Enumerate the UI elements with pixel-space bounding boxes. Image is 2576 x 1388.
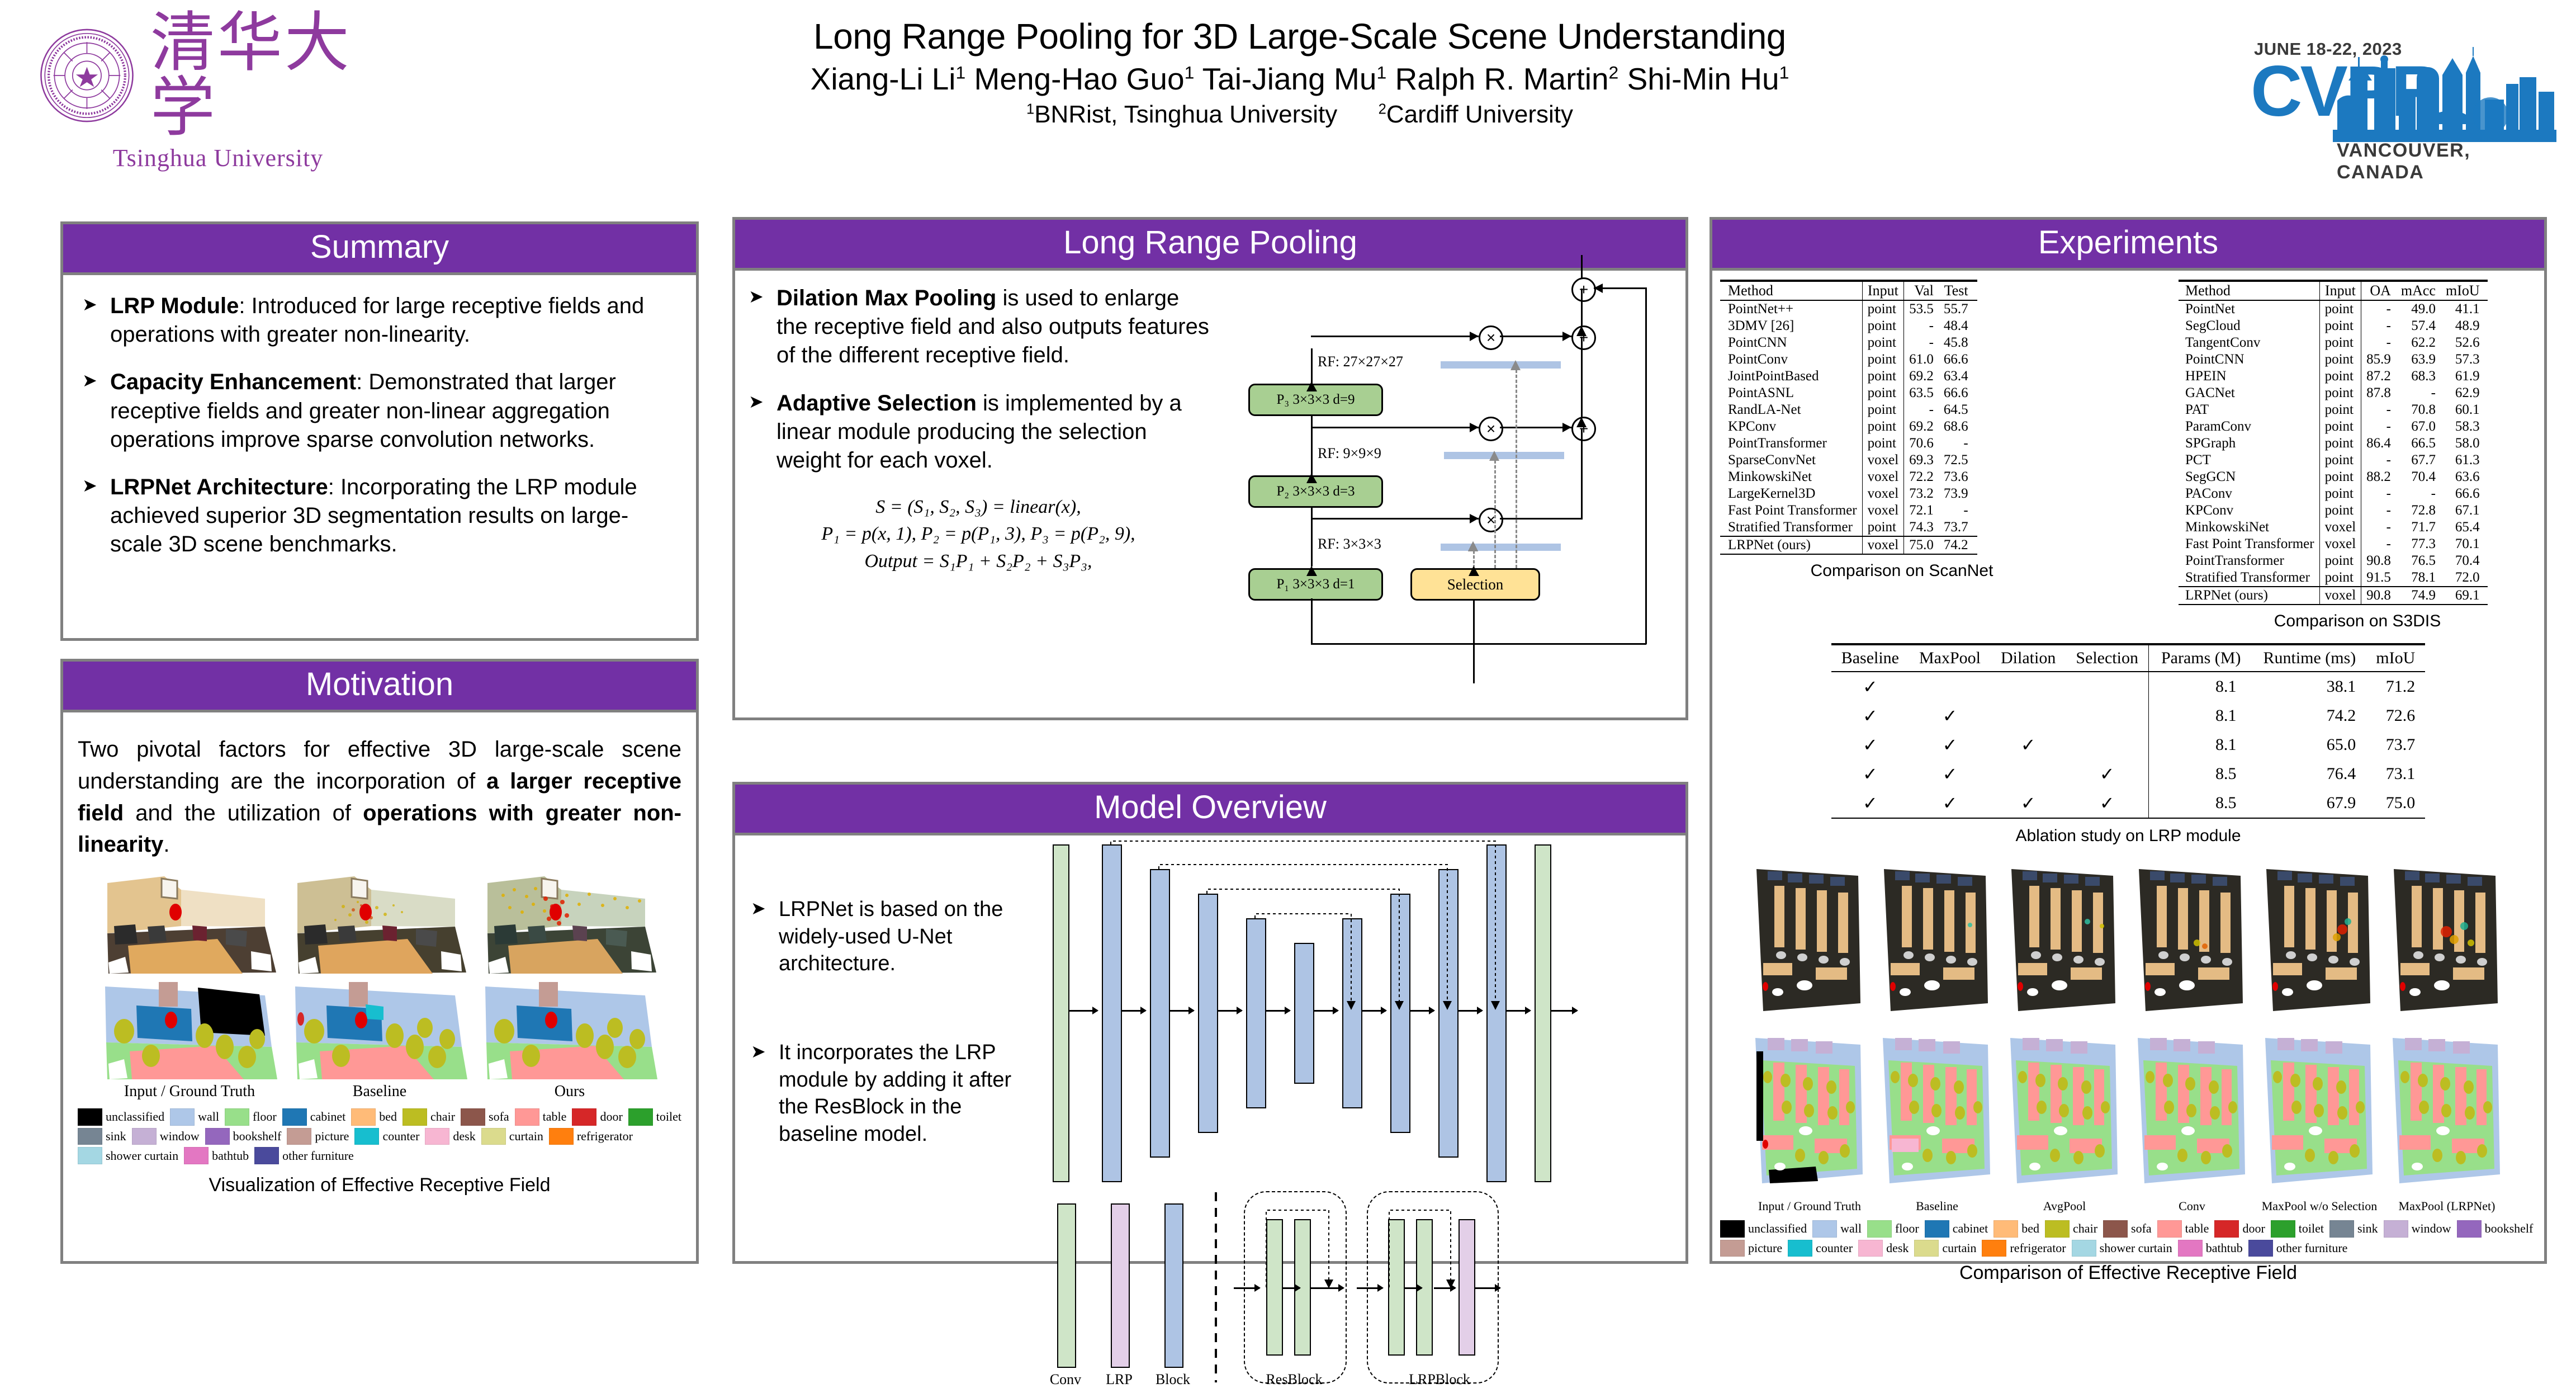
cell-check — [1991, 672, 2066, 701]
table-row: ✓8.138.171.2 — [1831, 672, 2426, 701]
s3dis-table: MethodInputOAmAccmIoUPointNetpoint-49.04… — [2179, 280, 2488, 606]
cell: voxel — [2319, 536, 2361, 553]
table-row: PAConvpoint--66.6 — [2179, 485, 2488, 502]
cell: 73.6 — [1939, 469, 1977, 485]
table-row: SegCloudpoint-57.448.9 — [2179, 318, 2488, 334]
diagram-mul-add-line-1 — [1500, 427, 1573, 428]
cell: 8.1 — [2148, 672, 2253, 701]
cell: 8.1 — [2148, 730, 2253, 759]
scannet-table: MethodInputValTestPointNet++point53.555.… — [1720, 280, 1977, 556]
cell: point — [1862, 334, 1904, 351]
legend-item: desk — [425, 1128, 475, 1145]
resblock-label: ResBlock — [1255, 1371, 1333, 1388]
title-block: Long Range Pooling for 3D Large-Scale Sc… — [503, 17, 2096, 129]
cell: 8.5 — [2148, 789, 2253, 818]
cell-check: ✓ — [1831, 701, 1909, 730]
cell: - — [2361, 536, 2396, 553]
summary-bullet-list: LRP Module: Introduced for large recepti… — [80, 292, 679, 559]
legend-item: floor — [225, 1108, 277, 1126]
legend-item: wall — [170, 1108, 219, 1126]
cell-check: ✓ — [1831, 789, 1909, 818]
cell-check — [1991, 759, 2066, 789]
legend-label: unclassified — [106, 1110, 164, 1124]
cell: point — [2319, 318, 2361, 334]
cell: 60.1 — [2441, 402, 2488, 418]
poster-root: 清华大学 Tsinghua University Long Range Pool… — [0, 0, 2576, 1288]
diagram-rf-label-1: RF: 9×9×9 — [1318, 445, 1381, 462]
legend-swatch — [254, 1147, 279, 1164]
table-row: HPEINpoint87.268.361.9 — [2179, 368, 2488, 385]
cell: - — [2361, 418, 2396, 435]
table-row: ✓✓8.174.272.6 — [1831, 701, 2426, 730]
table-row-ours: LRPNet (ours)voxel90.874.969.1 — [2179, 587, 2488, 605]
legend-item: wall — [1812, 1220, 1862, 1238]
model-bullet-1-rest: It incorporates the LRP module by adding… — [779, 1041, 1011, 1146]
legend-label: picture — [1748, 1241, 1782, 1255]
legend-item: sofa — [461, 1108, 509, 1126]
legend-label: sofa — [489, 1110, 509, 1124]
cell: point — [2319, 368, 2361, 385]
table-row: ✓✓✓8.576.473.1 — [1831, 759, 2426, 789]
cell: 87.2 — [2361, 368, 2396, 385]
legend-bar-lrp — [1111, 1203, 1130, 1368]
panel-long-range-pooling: Long Range Pooling Dilation Max Pooling … — [732, 217, 1688, 720]
legend-item: picture — [287, 1128, 349, 1145]
scannet-caption: Comparison on ScanNet — [1720, 561, 2083, 580]
col-header: OA — [2361, 281, 2396, 300]
cell-check: ✓ — [1991, 789, 2066, 818]
legend-swatch — [2103, 1220, 2128, 1238]
lrp-bullet-0-lead: Dilation Max Pooling — [776, 286, 996, 310]
legend-label: curtain — [509, 1129, 543, 1144]
legend-swatch — [402, 1108, 427, 1126]
cell: Stratified Transformer — [2179, 569, 2319, 587]
lrp-bullet-list: Dilation Max Pooling is used to enlarge … — [746, 284, 1210, 475]
cell: - — [1939, 502, 1977, 519]
tsinghua-chinese-name: 清华大学 — [150, 11, 397, 140]
cell: point — [2319, 502, 2361, 519]
legend-swatch — [78, 1108, 102, 1126]
cell: voxel — [1862, 452, 1904, 469]
cell: point — [2319, 385, 2361, 402]
legend-label: floor — [253, 1110, 277, 1124]
legend-label: chair — [2073, 1221, 2097, 1236]
col-header: Val — [1904, 281, 1939, 300]
table-row-ours: LRPNet (ours)voxel75.074.2 — [1720, 536, 1977, 554]
legend-swatch — [628, 1108, 653, 1126]
affiliations: 1BNRist, Tsinghua University 2Cardiff Un… — [503, 101, 2096, 129]
s3dis-caption: Comparison on S3DIS — [2179, 612, 2536, 631]
legend-label: bathtub — [212, 1149, 249, 1163]
lrp-bullet-1-lead: Adaptive Selection — [776, 391, 977, 416]
diagram-weight-bar-2 — [1441, 361, 1561, 369]
col-header: mIoU — [2441, 281, 2488, 300]
legend-swatch — [2271, 1220, 2295, 1238]
legend-swatch — [2214, 1220, 2239, 1238]
legend-item: sink — [78, 1128, 126, 1145]
cell: voxel — [1862, 469, 1904, 485]
cell: 72.5 — [1939, 452, 1977, 469]
cell: 48.9 — [2441, 318, 2488, 334]
legend-item: unclassified — [78, 1108, 164, 1126]
erf-photo-2 — [2004, 859, 2125, 1027]
legend-label: wall — [198, 1110, 219, 1124]
erf-photo-4 — [2258, 859, 2380, 1027]
legend-swatch — [225, 1108, 249, 1126]
motivation-image-label-1: Baseline — [287, 1083, 472, 1101]
ablation-caption: Ablation study on LRP module — [2015, 827, 2241, 846]
panel-model-overview: Model Overview LRPNet is based on the wi… — [732, 782, 1688, 1264]
legend-item: bookshelf — [205, 1128, 282, 1145]
legend-item: counter — [1788, 1240, 1853, 1257]
legend-label: cabinet — [1953, 1221, 1988, 1236]
model-bullet-0: LRPNet is based on the widely-used U-Net… — [749, 896, 1039, 978]
legend-item: door — [572, 1108, 622, 1126]
cell: PointNet — [2179, 300, 2319, 318]
legend-label: window — [2412, 1221, 2451, 1236]
legend-label: shower curtain — [2100, 1241, 2172, 1255]
model-bullet-1: It incorporates the LRP module by adding… — [749, 1039, 1039, 1148]
cell: SegCloud — [2179, 318, 2319, 334]
cell: SegGCN — [2179, 469, 2319, 485]
lrp-bullet-0: Dilation Max Pooling is used to enlarge … — [746, 284, 1210, 370]
legend-item: bookshelf — [2457, 1220, 2534, 1238]
legend-swatch — [287, 1128, 311, 1145]
poster-header: 清华大学 Tsinghua University Long Range Pool… — [0, 0, 2576, 196]
lrp-bullet-1: Adaptive Selection is implemented by a l… — [746, 389, 1210, 475]
cell: 41.1 — [2441, 300, 2488, 318]
cell: 78.1 — [2396, 569, 2441, 587]
erf-seg-0 — [1749, 1029, 1871, 1197]
legend-swatch — [515, 1108, 539, 1126]
legend-item: toilet — [2271, 1220, 2324, 1238]
table-row: ParamConvpoint-67.058.3 — [2179, 418, 2488, 435]
legend-swatch — [1982, 1240, 2006, 1257]
cell: 88.2 — [2361, 469, 2396, 485]
diagram-branch-line-2 — [1311, 336, 1479, 337]
lrpblock-skip — [1361, 1187, 1495, 1310]
legend-label: window — [160, 1129, 200, 1144]
legend-label: sofa — [2131, 1221, 2152, 1236]
cell: point — [1862, 435, 1904, 452]
erf-photo-3 — [2131, 859, 2253, 1027]
motivation-paragraph: Two pivotal factors for effective 3D lar… — [78, 734, 681, 861]
summary-body: LRP Module: Introduced for large recepti… — [63, 275, 696, 591]
legend-label: refrigerator — [2010, 1241, 2066, 1255]
legend-swatch — [184, 1147, 209, 1164]
tsinghua-logo: 清华大学 Tsinghua University — [39, 10, 397, 172]
cell: 65.0 — [2253, 730, 2366, 759]
cell: 71.7 — [2396, 519, 2441, 536]
diagram-mul-add-line-0b — [1581, 428, 1583, 519]
legend-item: toilet — [628, 1108, 681, 1126]
legend-item: window — [2384, 1220, 2451, 1238]
legend-swatch — [2178, 1240, 2203, 1257]
lrp-diagram: P₁ 3×3×3 d=1 P₂ 3×3×3 d=3 P₃ 3×3×3 d=9 S… — [1177, 267, 1674, 709]
table-row: ✓✓✓8.165.073.7 — [1831, 730, 2426, 759]
summary-bullet-0: LRP Module: Introduced for large recepti… — [80, 292, 679, 349]
erf-photo-0 — [1749, 859, 1871, 1027]
cell: point — [1862, 418, 1904, 435]
cell: KPConv — [2179, 502, 2319, 519]
cell: 77.3 — [2396, 536, 2441, 553]
cell: LargeKernel3D — [1720, 485, 1862, 502]
panel-experiments: Experiments MethodInputValTestPointNet++… — [1710, 217, 2547, 1264]
erf-labels-row: Input / Ground TruthBaselineAvgPoolConvM… — [1720, 1199, 2536, 1214]
table-row: LargeKernel3Dvoxel73.273.9 — [1720, 485, 1977, 502]
legend-item: table — [2157, 1220, 2209, 1238]
cell: 73.7 — [2366, 730, 2425, 759]
legend-item: curtain — [1914, 1240, 1976, 1257]
diagram-skip-into-add — [1594, 287, 1646, 289]
legend-item: shower curtain — [78, 1147, 178, 1164]
diagram-rf-label-2: RF: 27×27×27 — [1318, 353, 1403, 370]
cell: 70.4 — [2396, 469, 2441, 485]
legend-label: toilet — [656, 1110, 681, 1124]
tsinghua-english-name: Tsinghua University — [113, 144, 323, 172]
diagram-add-1: + — [1571, 325, 1596, 350]
col-header: Input — [1862, 281, 1904, 300]
col-header: Method — [2179, 281, 2319, 300]
motivation-photo-0 — [97, 873, 282, 976]
legend-label: other furniture — [2276, 1241, 2348, 1255]
cell: 68.6 — [1939, 418, 1977, 435]
table-row: PATpoint-70.860.1 — [2179, 402, 2488, 418]
experiments-heading: Experiments — [1712, 220, 2544, 271]
motivation-text-e: . — [163, 832, 169, 857]
legend-label: desk — [1886, 1241, 1909, 1255]
diagram-add-2: + — [1571, 277, 1596, 302]
motivation-image-label-2: Ours — [477, 1083, 662, 1101]
cell: point — [2319, 418, 2361, 435]
col-header: Test — [1939, 281, 1977, 300]
cell: 45.8 — [1939, 334, 1977, 351]
cell: point — [2319, 351, 2361, 368]
cell: 86.4 — [2361, 435, 2396, 452]
cell-check: ✓ — [1909, 701, 1991, 730]
diagram-add-0: + — [1571, 417, 1596, 441]
table-row: KPConvpoint-72.867.1 — [2179, 502, 2488, 519]
conference-location: VANCOUVER, CANADA — [2337, 140, 2559, 183]
summary-bullet-1: Capacity Enhancement: Demonstrated that … — [80, 368, 679, 454]
cell: JointPointBased — [1720, 368, 1862, 385]
col-header: Input — [2319, 281, 2361, 300]
cell: 74.2 — [1939, 536, 1977, 554]
erf-label-1: Baseline — [1876, 1199, 1998, 1214]
cell: 72.8 — [2396, 502, 2441, 519]
cell: voxel — [2319, 587, 2361, 605]
cell: SPGraph — [2179, 435, 2319, 452]
cell-check — [1909, 672, 1991, 701]
legend-label: counter — [382, 1129, 419, 1144]
motivation-heading: Motivation — [63, 662, 696, 712]
legend-item: window — [132, 1128, 200, 1145]
cell: 66.6 — [2441, 485, 2488, 502]
legend-label: sink — [106, 1129, 126, 1144]
cell-check: ✓ — [1991, 730, 2066, 759]
legend-label-block: Block — [1148, 1371, 1198, 1388]
cell: 75.0 — [1904, 536, 1939, 554]
table-row: Fast Point Transformervoxel72.1- — [1720, 502, 1977, 519]
cell: point — [2319, 435, 2361, 452]
cell: 76.4 — [2253, 759, 2366, 789]
col-header: mIoU — [2366, 644, 2425, 672]
legend-item: sink — [2329, 1220, 2378, 1238]
legend-label: toilet — [2299, 1221, 2324, 1236]
cell: MinkowskiNet — [1720, 469, 1862, 485]
cell: HPEIN — [2179, 368, 2319, 385]
cell: Fast Point Transformer — [2179, 536, 2319, 553]
legend-label-conv: Conv — [1040, 1371, 1091, 1388]
table-row: PointTransformerpoint90.876.570.4 — [2179, 553, 2488, 569]
table-row: JointPointBasedpoint69.263.4 — [1720, 368, 1977, 385]
cell: 58.0 — [2441, 435, 2488, 452]
motivation-image-labels: Input / Ground Truth Baseline Ours — [78, 1083, 681, 1101]
cell: - — [2361, 318, 2396, 334]
legend-item: chair — [2045, 1220, 2097, 1238]
cell: PAT — [2179, 402, 2319, 418]
col-header: Selection — [2066, 644, 2148, 672]
legend-item: cabinet — [1925, 1220, 1988, 1238]
cell: Fast Point Transformer — [1720, 502, 1862, 519]
table-row: RandLA-Netpoint-64.5 — [1720, 402, 1977, 418]
cell: - — [1904, 334, 1939, 351]
cell: 69.2 — [1904, 368, 1939, 385]
diagram-weight-bar-0 — [1441, 544, 1561, 551]
diagram-dashed-1 — [1494, 455, 1496, 568]
cell-check: ✓ — [2066, 759, 2148, 789]
legend-item: door — [2214, 1220, 2265, 1238]
cell: 70.6 — [1904, 435, 1939, 452]
cell: - — [2361, 519, 2396, 536]
diagram-block-P2: P₂ 3×3×3 d=3 — [1248, 475, 1383, 508]
motivation-photo-row — [78, 873, 681, 976]
cell: 63.9 — [2396, 351, 2441, 368]
legend-label-lrp: LRP — [1094, 1371, 1144, 1388]
table-row: PointTransformerpoint70.6- — [1720, 435, 1977, 452]
motivation-caption: Visualization of Effective Receptive Fie… — [78, 1174, 681, 1196]
cell-check: ✓ — [1831, 759, 1909, 789]
table-row: SegGCNpoint88.270.463.6 — [2179, 469, 2488, 485]
unet-diagram: Conv LRP Block ResBlock — [1048, 840, 1669, 1254]
model-bullet-list: LRPNet is based on the widely-used U-Net… — [749, 896, 1039, 1148]
erf-seg-3 — [2131, 1029, 2253, 1197]
motivation-seg-0 — [97, 980, 282, 1080]
cell: 74.2 — [2253, 701, 2366, 730]
class-color-legend: unclassifiedwallfloorcabinetbedchairsofa… — [78, 1108, 681, 1164]
cell: 72.6 — [2366, 701, 2425, 730]
legend-swatch — [1720, 1220, 1745, 1238]
legend-swatch — [2045, 1220, 2070, 1238]
cell: 63.5 — [1904, 385, 1939, 402]
legend-swatch — [1993, 1220, 2018, 1238]
cell: PointCNN — [1720, 334, 1862, 351]
cell: Stratified Transformer — [1720, 519, 1862, 536]
diagram-multiply-0: × — [1479, 508, 1503, 532]
cell: LRPNet (ours) — [2179, 587, 2319, 605]
motivation-image-label-0: Input / Ground Truth — [97, 1083, 282, 1101]
cell: point — [2319, 452, 2361, 469]
cell: 73.9 — [1939, 485, 1977, 502]
legend-item: picture — [1720, 1240, 1782, 1257]
motivation-body: Two pivotal factors for effective 3D lar… — [63, 712, 696, 1196]
model-heading: Model Overview — [735, 785, 1685, 835]
table-row: SPGraphpoint86.466.558.0 — [2179, 435, 2488, 452]
cell: 74.3 — [1904, 519, 1939, 536]
legend-swatch — [461, 1108, 485, 1126]
class-color-legend-experiments: unclassifiedwallfloorcabinetbedchairsofa… — [1720, 1220, 2536, 1257]
legend-label: shower curtain — [106, 1149, 178, 1163]
cvpr-logo: JUNE 18-22, 2023 CVPR — [2246, 12, 2559, 169]
legend-item: bed — [351, 1108, 397, 1126]
cell: 67.9 — [2253, 789, 2366, 818]
legend-label: bathtub — [2206, 1241, 2243, 1255]
legend-swatch — [132, 1128, 157, 1145]
cell: 8.1 — [2148, 701, 2253, 730]
col-header: MaxPool — [1909, 644, 1991, 672]
legend-label: sink — [2357, 1221, 2378, 1236]
legend-swatch — [2457, 1220, 2482, 1238]
legend-label: wall — [1840, 1221, 1862, 1236]
diagram-weight-bar-1 — [1444, 452, 1564, 459]
cell: - — [2396, 385, 2441, 402]
cell: 66.6 — [1939, 385, 1977, 402]
cell: 65.4 — [2441, 519, 2488, 536]
lrp-heading: Long Range Pooling — [735, 220, 1685, 271]
col-header: Baseline — [1831, 644, 1909, 672]
cell-check: ✓ — [1909, 789, 1991, 818]
cell: 48.4 — [1939, 318, 1977, 334]
table-row: PointNetpoint-49.041.1 — [2179, 300, 2488, 318]
cell: - — [2396, 485, 2441, 502]
col-header: Dilation — [1991, 644, 2066, 672]
diagram-block-P3: P₃ 3×3×3 d=9 — [1248, 384, 1383, 416]
table-row: ✓✓✓✓8.567.975.0 — [1831, 789, 2426, 818]
cell: 67.0 — [2396, 418, 2441, 435]
table-row: GACNetpoint87.8-62.9 — [2179, 385, 2488, 402]
legend-swatch — [1858, 1240, 1883, 1257]
legend-swatch — [78, 1147, 102, 1164]
author-list: Xiang-Li Li1 Meng-Hao Guo1 Tai-Jiang Mu1… — [503, 62, 2096, 97]
panel-motivation: Motivation Two pivotal factors for effec… — [60, 659, 699, 1264]
experiments-body: MethodInputValTestPointNet++point53.555.… — [1712, 271, 2544, 1256]
cell: 61.3 — [2441, 452, 2488, 469]
legend-item: table — [515, 1108, 567, 1126]
legend-item: floor — [1867, 1220, 1919, 1238]
legend-swatch — [1720, 1240, 1745, 1257]
cell: point — [2319, 485, 2361, 502]
erf-seg-2 — [2004, 1029, 2125, 1197]
erf-seg-5 — [2386, 1029, 2508, 1197]
cell: 75.0 — [2366, 789, 2425, 818]
cell: 91.5 — [2361, 569, 2396, 587]
cell: point — [2319, 569, 2361, 587]
cell: 90.8 — [2361, 553, 2396, 569]
cell: TangentConv — [2179, 334, 2319, 351]
cell: voxel — [1862, 485, 1904, 502]
cell: 57.4 — [2396, 318, 2441, 334]
cell: KPConv — [1720, 418, 1862, 435]
cell: - — [2361, 334, 2396, 351]
cell: point — [1862, 351, 1904, 368]
col-header: mAcc — [2396, 281, 2441, 300]
diagram-input-to-p1 — [1311, 598, 1313, 644]
diagram-add-chain-line-2 — [1581, 289, 1583, 327]
motivation-photo-1 — [287, 873, 472, 976]
cell: 90.8 — [2361, 587, 2396, 605]
cell: PointConv — [1720, 351, 1862, 368]
cell-check — [1991, 701, 2066, 730]
